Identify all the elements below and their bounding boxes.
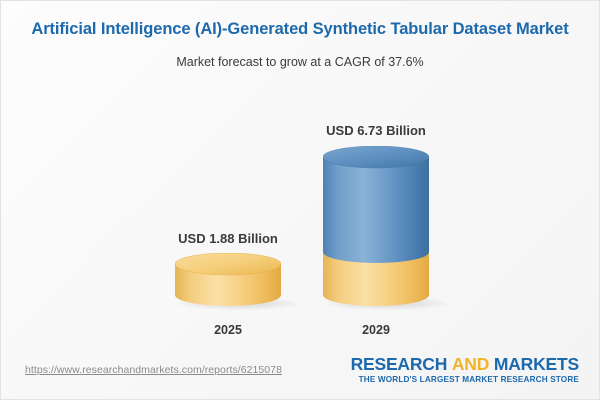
bar-category-label-2025: 2025 [158,323,298,337]
bar-cylinder-2025 [175,253,281,306]
logo-wordmark: RESEARCH AND MARKETS [351,355,579,373]
logo-tagline: THE WORLD'S LARGEST MARKET RESEARCH STOR… [351,375,579,384]
logo-word-and: AND [452,354,489,374]
bar-category-label-2029: 2029 [306,323,446,337]
footer: https://www.researchandmarkets.com/repor… [1,347,600,399]
logo-word-research: RESEARCH [351,354,448,374]
bar-value-label-2029: USD 6.73 Billion [306,123,446,138]
chart-plot-area: USD 1.88 Billion [1,1,600,349]
market-infographic: Artificial Intelligence (AI)-Generated S… [0,0,600,400]
logo-word-markets: MARKETS [494,354,579,374]
bar-value-label-2025: USD 1.88 Billion [158,231,298,246]
report-url-link[interactable]: https://www.researchandmarkets.com/repor… [25,364,282,376]
bar-cylinder-2029 [323,146,429,306]
research-and-markets-logo: RESEARCH AND MARKETS THE WORLD'S LARGEST… [351,355,579,384]
